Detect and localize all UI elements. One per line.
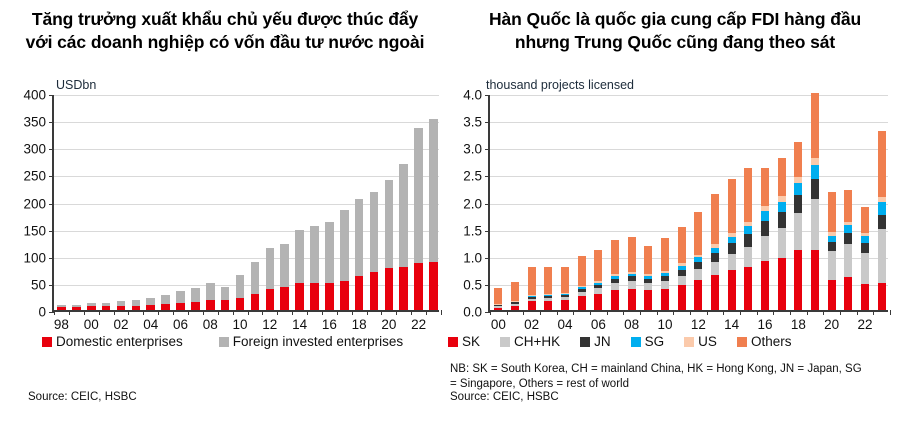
bar xyxy=(280,244,289,310)
bar-segment xyxy=(544,301,552,310)
y-axis-tick xyxy=(49,231,54,232)
x-axis-tick xyxy=(507,310,508,315)
y-axis-label: 50 xyxy=(31,277,46,292)
bar-segment xyxy=(794,213,802,250)
bar xyxy=(761,168,769,310)
x-axis-tick xyxy=(54,310,55,315)
bar-segment xyxy=(628,237,636,271)
x-axis-tick xyxy=(322,310,323,315)
x-axis-tick xyxy=(490,310,491,315)
legend-swatch-icon xyxy=(500,337,510,347)
legend-swatch-icon xyxy=(42,337,52,347)
bar-segment xyxy=(117,306,126,310)
legend-item[interactable]: CH+HK xyxy=(500,334,560,349)
bar-segment xyxy=(355,276,364,310)
x-axis-tick xyxy=(623,310,624,315)
bar-segment xyxy=(370,272,379,310)
bar-segment xyxy=(711,253,719,262)
bar-segment xyxy=(644,246,652,274)
bar-segment xyxy=(340,210,349,281)
bar-segment xyxy=(176,303,185,310)
bar-segment xyxy=(561,267,569,293)
bar-segment xyxy=(844,190,852,221)
x-axis-tick xyxy=(723,310,724,315)
bar-segment xyxy=(355,199,364,276)
x-axis-tick xyxy=(773,310,774,315)
bar-segment xyxy=(861,236,869,243)
bar xyxy=(132,300,141,310)
y-axis-tick xyxy=(485,176,490,177)
bar-segment xyxy=(761,261,769,310)
x-axis-label: 00 xyxy=(84,317,99,332)
bar xyxy=(578,256,586,310)
right-plot-area: 0.00.51.01.52.02.53.03.54.00002040608101… xyxy=(488,95,888,312)
bar-segment xyxy=(861,253,869,284)
bar-segment xyxy=(511,306,519,310)
x-axis-tick xyxy=(248,310,249,315)
x-axis-tick xyxy=(426,310,427,315)
x-axis-tick xyxy=(523,310,524,315)
bar-segment xyxy=(778,212,786,228)
bar-segment xyxy=(251,262,260,293)
legend-swatch-icon xyxy=(219,337,229,347)
x-axis-label: 04 xyxy=(143,317,158,332)
x-axis-tick xyxy=(557,310,558,315)
bar-segment xyxy=(644,290,652,310)
bar xyxy=(744,168,752,310)
bar-segment xyxy=(828,192,836,233)
x-axis-label: 00 xyxy=(491,317,506,332)
y-axis-tick xyxy=(485,122,490,123)
bar xyxy=(72,305,81,310)
x-axis-tick xyxy=(807,310,808,315)
bar-segment xyxy=(694,269,702,280)
y-axis-tick xyxy=(49,122,54,123)
gridline xyxy=(490,122,888,123)
x-axis-tick xyxy=(262,310,263,315)
x-axis-label: 20 xyxy=(824,317,839,332)
bar-segment xyxy=(778,228,786,258)
x-axis-label: 04 xyxy=(557,317,572,332)
y-axis-tick xyxy=(49,258,54,259)
x-axis-label: 02 xyxy=(524,317,539,332)
bar-segment xyxy=(828,280,836,310)
x-axis-tick xyxy=(203,310,204,315)
legend-label: US xyxy=(698,334,717,349)
bar xyxy=(594,250,602,310)
x-axis-tick xyxy=(573,310,574,315)
y-axis-tick xyxy=(485,95,490,96)
right-chart-title-line1: Hàn Quốc là quốc gia cung cấp FDI hàng đ… xyxy=(458,8,892,31)
bar xyxy=(561,267,569,310)
x-axis-label: 02 xyxy=(113,317,128,332)
bar-segment xyxy=(87,306,96,310)
bar-segment xyxy=(206,283,215,300)
x-axis-tick xyxy=(690,310,691,315)
bar-segment xyxy=(744,234,752,247)
y-axis-tick xyxy=(49,176,54,177)
bar-segment xyxy=(429,262,438,310)
gridline xyxy=(54,176,439,177)
bar-segment xyxy=(414,128,423,263)
bar-segment xyxy=(744,226,752,234)
bar-segment xyxy=(778,158,786,196)
legend-item[interactable]: SG xyxy=(631,334,665,349)
bar-segment xyxy=(236,298,245,310)
right-axis-unit-label: thousand projects licensed xyxy=(486,78,634,92)
bar-segment xyxy=(161,304,170,310)
bar-segment xyxy=(794,195,802,213)
bar-segment xyxy=(385,180,394,267)
bar xyxy=(340,210,349,310)
y-axis-label: 150 xyxy=(23,223,46,238)
bar-segment xyxy=(728,270,736,310)
bar-segment xyxy=(844,244,852,278)
x-axis-tick xyxy=(352,310,353,315)
x-axis-tick xyxy=(99,310,100,315)
bar-segment xyxy=(811,199,819,251)
bar-segment xyxy=(828,242,836,251)
bar-segment xyxy=(828,251,836,280)
bar-segment xyxy=(628,281,636,289)
bar-segment xyxy=(861,284,869,310)
bar-segment xyxy=(678,285,686,310)
bar xyxy=(236,275,245,310)
bar-segment xyxy=(694,262,702,269)
bar xyxy=(628,237,636,310)
bar-segment xyxy=(191,288,200,302)
x-axis-tick xyxy=(277,310,278,315)
x-axis-tick xyxy=(790,310,791,315)
bar xyxy=(429,119,438,310)
bar xyxy=(661,238,669,310)
x-axis-label: 22 xyxy=(857,317,872,332)
x-axis-tick xyxy=(890,310,891,315)
y-axis-label: 3.5 xyxy=(463,115,482,130)
legend-label: CH+HK xyxy=(514,334,560,349)
legend-item[interactable]: JN xyxy=(580,334,611,349)
x-axis-label: 18 xyxy=(791,317,806,332)
y-axis-label: 2.0 xyxy=(463,196,482,211)
legend-label: Domestic enterprises xyxy=(56,334,183,349)
bar xyxy=(295,230,304,310)
y-axis-label: 1.0 xyxy=(463,250,482,265)
bar xyxy=(828,192,836,310)
bar-segment xyxy=(325,283,334,310)
bar xyxy=(57,305,66,310)
bar-segment xyxy=(844,277,852,310)
x-axis-tick xyxy=(128,310,129,315)
right-chart-legend: SKCH+HKJNSGUSOthers xyxy=(448,334,791,349)
gridline xyxy=(54,231,439,232)
legend-label: Others xyxy=(751,334,792,349)
bar-segment xyxy=(146,305,155,310)
bar-segment xyxy=(878,202,886,215)
bar-segment xyxy=(494,308,502,310)
legend-swatch-icon xyxy=(448,337,458,347)
bar-segment xyxy=(132,306,141,310)
left-chart-legend: Domestic enterprisesForeign invested ent… xyxy=(42,334,403,349)
bar-segment xyxy=(794,183,802,195)
bar-segment xyxy=(628,289,636,310)
bar-segment xyxy=(878,215,886,229)
bar-segment xyxy=(678,227,686,264)
x-axis-tick xyxy=(233,310,234,315)
bar-segment xyxy=(206,300,215,310)
legend-label: SK xyxy=(462,334,480,349)
bar-segment xyxy=(251,294,260,310)
bar-segment xyxy=(221,287,230,301)
bar-segment xyxy=(761,236,769,261)
x-axis-tick xyxy=(396,310,397,315)
bar-segment xyxy=(266,248,275,289)
left-plot-area: 0501001502002503003504009800020406081012… xyxy=(52,95,439,312)
x-axis-tick xyxy=(367,310,368,315)
bar xyxy=(728,179,736,310)
x-axis-label: 14 xyxy=(724,317,739,332)
left-chart-title-line1: Tăng trưởng xuất khẩu chủ yếu được thúc … xyxy=(8,8,442,31)
bar xyxy=(511,282,519,310)
bar xyxy=(325,222,334,310)
x-axis-tick xyxy=(640,310,641,315)
bar-segment xyxy=(528,301,536,310)
bar-segment xyxy=(325,222,334,283)
bar xyxy=(191,288,200,310)
bar-segment xyxy=(861,243,869,252)
legend-label: JN xyxy=(594,334,611,349)
legend-item[interactable]: Domestic enterprises xyxy=(42,334,183,349)
bar xyxy=(861,207,869,310)
bar-segment xyxy=(728,254,736,270)
left-axis-unit-label: USDbn xyxy=(56,78,96,92)
bar-segment xyxy=(295,230,304,283)
x-axis-label: 14 xyxy=(292,317,307,332)
bar-segment xyxy=(429,119,438,262)
bar xyxy=(844,190,852,310)
y-axis-tick xyxy=(49,149,54,150)
x-axis-label: 16 xyxy=(322,317,337,332)
bar-segment xyxy=(594,294,602,310)
y-axis-tick xyxy=(485,258,490,259)
bar xyxy=(102,303,111,310)
x-axis-label: 06 xyxy=(173,317,188,332)
bar-segment xyxy=(678,276,686,285)
x-axis-label: 08 xyxy=(203,317,218,332)
bar-segment xyxy=(611,283,619,290)
left-chart-title-line2: với các doanh nghiệp có vốn đầu tư nước … xyxy=(8,31,442,54)
bar xyxy=(206,283,215,310)
bar-segment xyxy=(72,307,81,310)
bar-segment xyxy=(794,250,802,310)
x-axis-tick xyxy=(590,310,591,315)
x-axis-tick xyxy=(69,310,70,315)
x-axis-tick xyxy=(840,310,841,315)
bar-segment xyxy=(385,268,394,310)
bar-segment xyxy=(811,165,819,179)
x-axis-tick xyxy=(114,310,115,315)
bar xyxy=(414,128,423,310)
bar xyxy=(176,291,185,310)
y-axis-label: 3.0 xyxy=(463,142,482,157)
bar-segment xyxy=(811,93,819,158)
y-axis-label: 350 xyxy=(23,115,46,130)
bar xyxy=(310,226,319,310)
bar-segment xyxy=(711,194,719,244)
x-axis-tick xyxy=(540,310,541,315)
legend-swatch-icon xyxy=(684,337,694,347)
bar-segment xyxy=(844,225,852,233)
bar-segment xyxy=(744,168,752,222)
bar-segment xyxy=(878,131,886,197)
bar xyxy=(370,192,379,310)
right-chart-note: NB: SK = South Korea, CH = mainland Chin… xyxy=(450,362,870,391)
bar xyxy=(266,248,275,310)
bar-segment xyxy=(370,192,379,272)
bar-segment xyxy=(811,250,819,310)
bar xyxy=(399,164,408,310)
bar-segment xyxy=(811,179,819,199)
x-axis-label: 12 xyxy=(691,317,706,332)
y-axis-tick xyxy=(49,204,54,205)
x-axis-label: 06 xyxy=(591,317,606,332)
bar-segment xyxy=(161,295,170,304)
bar xyxy=(251,262,260,310)
bar xyxy=(221,287,230,310)
legend-item[interactable]: Others xyxy=(737,334,792,349)
bar-segment xyxy=(236,275,245,297)
legend-label: Foreign invested enterprises xyxy=(233,334,403,349)
y-axis-label: 200 xyxy=(23,196,46,211)
y-axis-label: 0 xyxy=(38,305,46,320)
right-source-text: Source: CEIC, HSBC xyxy=(450,391,559,403)
x-axis-tick xyxy=(673,310,674,315)
right-chart-title-line2: nhưng Trung Quốc cũng đang theo sát xyxy=(458,31,892,54)
legend-label: SG xyxy=(645,334,665,349)
bar xyxy=(355,199,364,310)
bar-segment xyxy=(399,267,408,310)
gridline xyxy=(54,204,439,205)
bar-segment xyxy=(594,250,602,281)
y-axis-tick xyxy=(485,231,490,232)
x-axis-tick xyxy=(740,310,741,315)
x-axis-tick xyxy=(143,310,144,315)
bar-segment xyxy=(661,289,669,310)
legend-item[interactable]: SK xyxy=(448,334,480,349)
x-axis-label: 12 xyxy=(262,317,277,332)
bar-segment xyxy=(544,267,552,294)
bar xyxy=(611,240,619,310)
bar-segment xyxy=(578,296,586,310)
x-axis-label: 20 xyxy=(381,317,396,332)
y-axis-label: 0.5 xyxy=(463,277,482,292)
bar-segment xyxy=(280,287,289,310)
y-axis-label: 250 xyxy=(23,169,46,184)
bar-segment xyxy=(414,263,423,310)
bar-segment xyxy=(578,256,586,286)
x-axis-tick xyxy=(292,310,293,315)
legend-item[interactable]: Foreign invested enterprises xyxy=(219,334,403,349)
bar xyxy=(528,267,536,310)
gridline xyxy=(490,176,888,177)
bar-segment xyxy=(661,238,669,271)
x-axis-tick xyxy=(158,310,159,315)
bar-segment xyxy=(711,262,719,276)
bar-segment xyxy=(761,221,769,236)
x-axis-tick xyxy=(337,310,338,315)
bar-segment xyxy=(399,164,408,267)
right-chart-panel: Hàn Quốc là quốc gia cung cấp FDI hàng đ… xyxy=(450,0,900,438)
bar-segment xyxy=(844,233,852,244)
x-axis-label: 98 xyxy=(54,317,69,332)
bar xyxy=(694,212,702,310)
bar xyxy=(117,301,126,310)
x-axis-label: 18 xyxy=(352,317,367,332)
gridline xyxy=(54,285,439,286)
x-axis-tick xyxy=(218,310,219,315)
y-axis-label: 400 xyxy=(23,88,46,103)
gridline xyxy=(490,149,888,150)
bar-segment xyxy=(728,243,736,254)
gridline xyxy=(54,95,439,96)
bar-segment xyxy=(761,168,769,207)
y-axis-tick xyxy=(49,95,54,96)
legend-swatch-icon xyxy=(580,337,590,347)
x-axis-label: 22 xyxy=(411,317,426,332)
x-axis-tick xyxy=(857,310,858,315)
bar-segment xyxy=(694,212,702,254)
bar-segment xyxy=(266,289,275,310)
bar-segment xyxy=(778,258,786,310)
bar-segment xyxy=(102,306,111,310)
y-axis-tick xyxy=(485,285,490,286)
bar-segment xyxy=(744,247,752,267)
x-axis-tick xyxy=(823,310,824,315)
gridline xyxy=(490,95,888,96)
bar-segment xyxy=(861,207,869,233)
x-axis-tick xyxy=(657,310,658,315)
x-axis-tick xyxy=(84,310,85,315)
bar-segment xyxy=(310,226,319,282)
y-axis-tick xyxy=(485,204,490,205)
bar-segment xyxy=(340,281,349,310)
gridline xyxy=(54,149,439,150)
bar-segment xyxy=(221,300,230,310)
bar-segment xyxy=(494,288,502,303)
bar xyxy=(878,131,886,310)
x-axis-tick xyxy=(411,310,412,315)
bar-segment xyxy=(528,267,536,295)
bar-segment xyxy=(611,240,619,275)
x-axis-tick xyxy=(607,310,608,315)
y-axis-label: 100 xyxy=(23,250,46,265)
x-axis-tick xyxy=(188,310,189,315)
bar-segment xyxy=(744,267,752,310)
figure-pair: Tăng trưởng xuất khẩu chủ yếu được thúc … xyxy=(0,0,900,438)
legend-item[interactable]: US xyxy=(684,334,717,349)
bar xyxy=(711,194,719,310)
bar-segment xyxy=(878,229,886,283)
y-axis-label: 2.5 xyxy=(463,169,482,184)
x-axis-tick xyxy=(707,310,708,315)
bar-segment xyxy=(711,275,719,310)
x-axis-label: 10 xyxy=(657,317,672,332)
bar-segment xyxy=(794,142,802,177)
bar-segment xyxy=(611,290,619,310)
bar xyxy=(161,295,170,310)
left-chart-title: Tăng trưởng xuất khẩu chủ yếu được thúc … xyxy=(0,0,450,54)
x-axis-tick xyxy=(307,310,308,315)
x-axis-tick xyxy=(381,310,382,315)
